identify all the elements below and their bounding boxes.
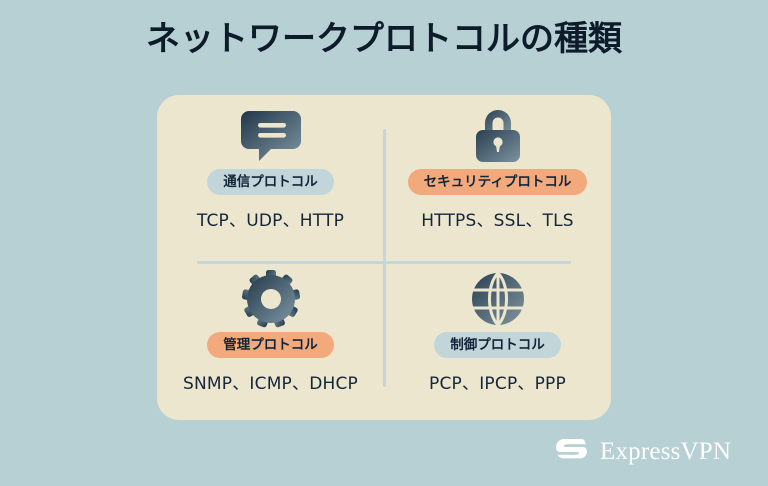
padlock-icon — [471, 107, 525, 165]
quadrant-management: 管理プロトコル SNMP、ICMP、DHCP — [157, 258, 384, 420]
protocol-label-pill: 管理プロトコル — [207, 332, 334, 358]
page-title: ネットワークプロトコルの種類 — [0, 16, 768, 62]
brand-name: ExpressVPN — [600, 438, 731, 466]
quadrant-security: セキュリティプロトコル HTTPS、SSL、TLS — [384, 95, 611, 257]
protocol-label-pill: 制御プロトコル — [434, 332, 561, 358]
quadrant-control: 制御プロトコル PCP、IPCP、PPP — [384, 258, 611, 420]
expressvpn-logo: ExpressVPN — [556, 437, 731, 467]
protocol-card: 通信プロトコル TCP、UDP、HTTP セキュリティプロトコル HTTPS、S… — [157, 95, 611, 420]
protocol-examples: PCP、IPCP、PPP — [429, 369, 566, 394]
protocol-label-pill: 通信プロトコル — [207, 169, 334, 195]
quadrant-communication: 通信プロトコル TCP、UDP、HTTP — [157, 95, 384, 257]
gear-icon — [242, 270, 300, 328]
protocol-label-pill: セキュリティプロトコル — [408, 169, 588, 195]
protocol-examples: HTTPS、SSL、TLS — [421, 206, 574, 231]
protocol-examples: TCP、UDP、HTTP — [197, 206, 344, 231]
protocol-examples: SNMP、ICMP、DHCP — [183, 369, 358, 394]
expressvpn-logo-icon — [556, 437, 590, 467]
globe-icon — [470, 270, 526, 328]
speech-bubble-icon — [241, 107, 301, 165]
